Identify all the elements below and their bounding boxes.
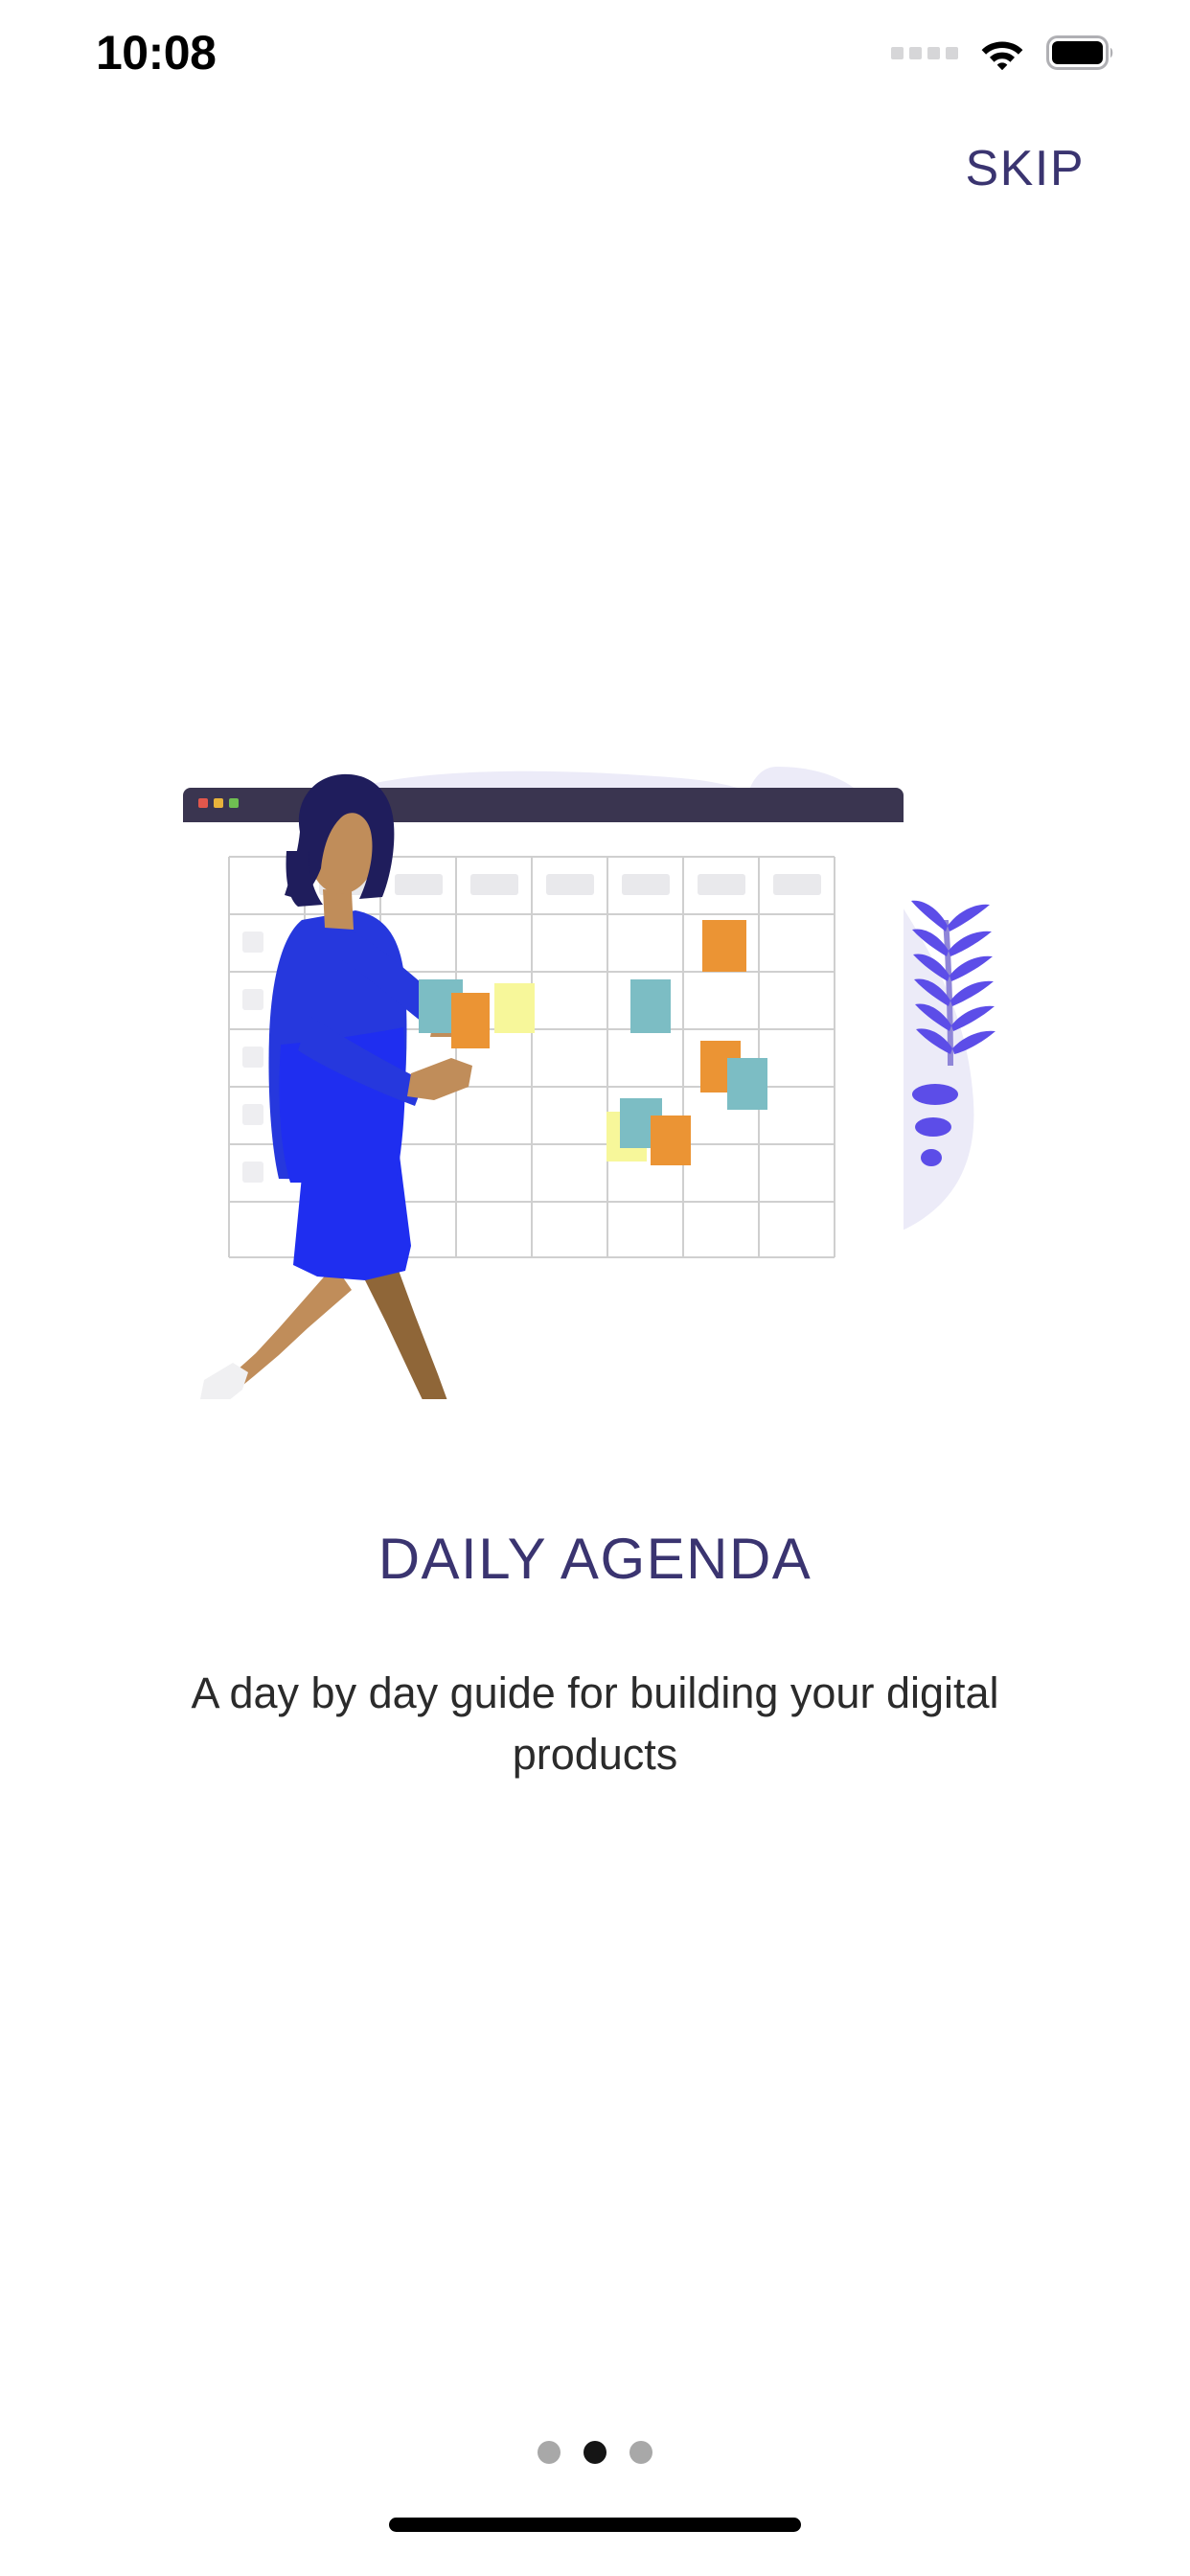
held-note-orange [451,993,490,1048]
browser-close-dot [198,798,208,808]
onboarding-illustration [164,728,1026,1399]
sticky-note-yellow [494,983,535,1033]
status-bar-time: 10:08 [96,29,216,77]
home-indicator-bar[interactable] [389,2518,801,2532]
signal-dots-icon [891,47,958,59]
sticky-note-teal [727,1058,767,1110]
sticky-note-teal [630,979,671,1033]
page-dot-3[interactable] [629,2441,652,2464]
battery-icon [1046,35,1115,70]
page-dot-1[interactable] [538,2441,561,2464]
sticky-note-orange [702,920,746,972]
pagination-dots [0,2441,1190,2464]
skip-button[interactable]: SKIP [956,134,1095,203]
page-title: DAILY AGENDA [0,1526,1190,1592]
page-subtitle: A day by day guide for building your dig… [0,1663,1190,1785]
browser-maximize-dot [229,798,239,808]
sticky-note-orange [651,1115,691,1165]
status-bar: 10:08 [0,0,1190,105]
browser-minimize-dot [214,798,223,808]
status-bar-indicators [891,35,1115,70]
skip-row: SKIP [0,134,1190,203]
onboarding-screen: 10:08 SKIP [0,0,1190,2576]
page-dot-2[interactable] [584,2441,606,2464]
wifi-icon [979,35,1025,70]
